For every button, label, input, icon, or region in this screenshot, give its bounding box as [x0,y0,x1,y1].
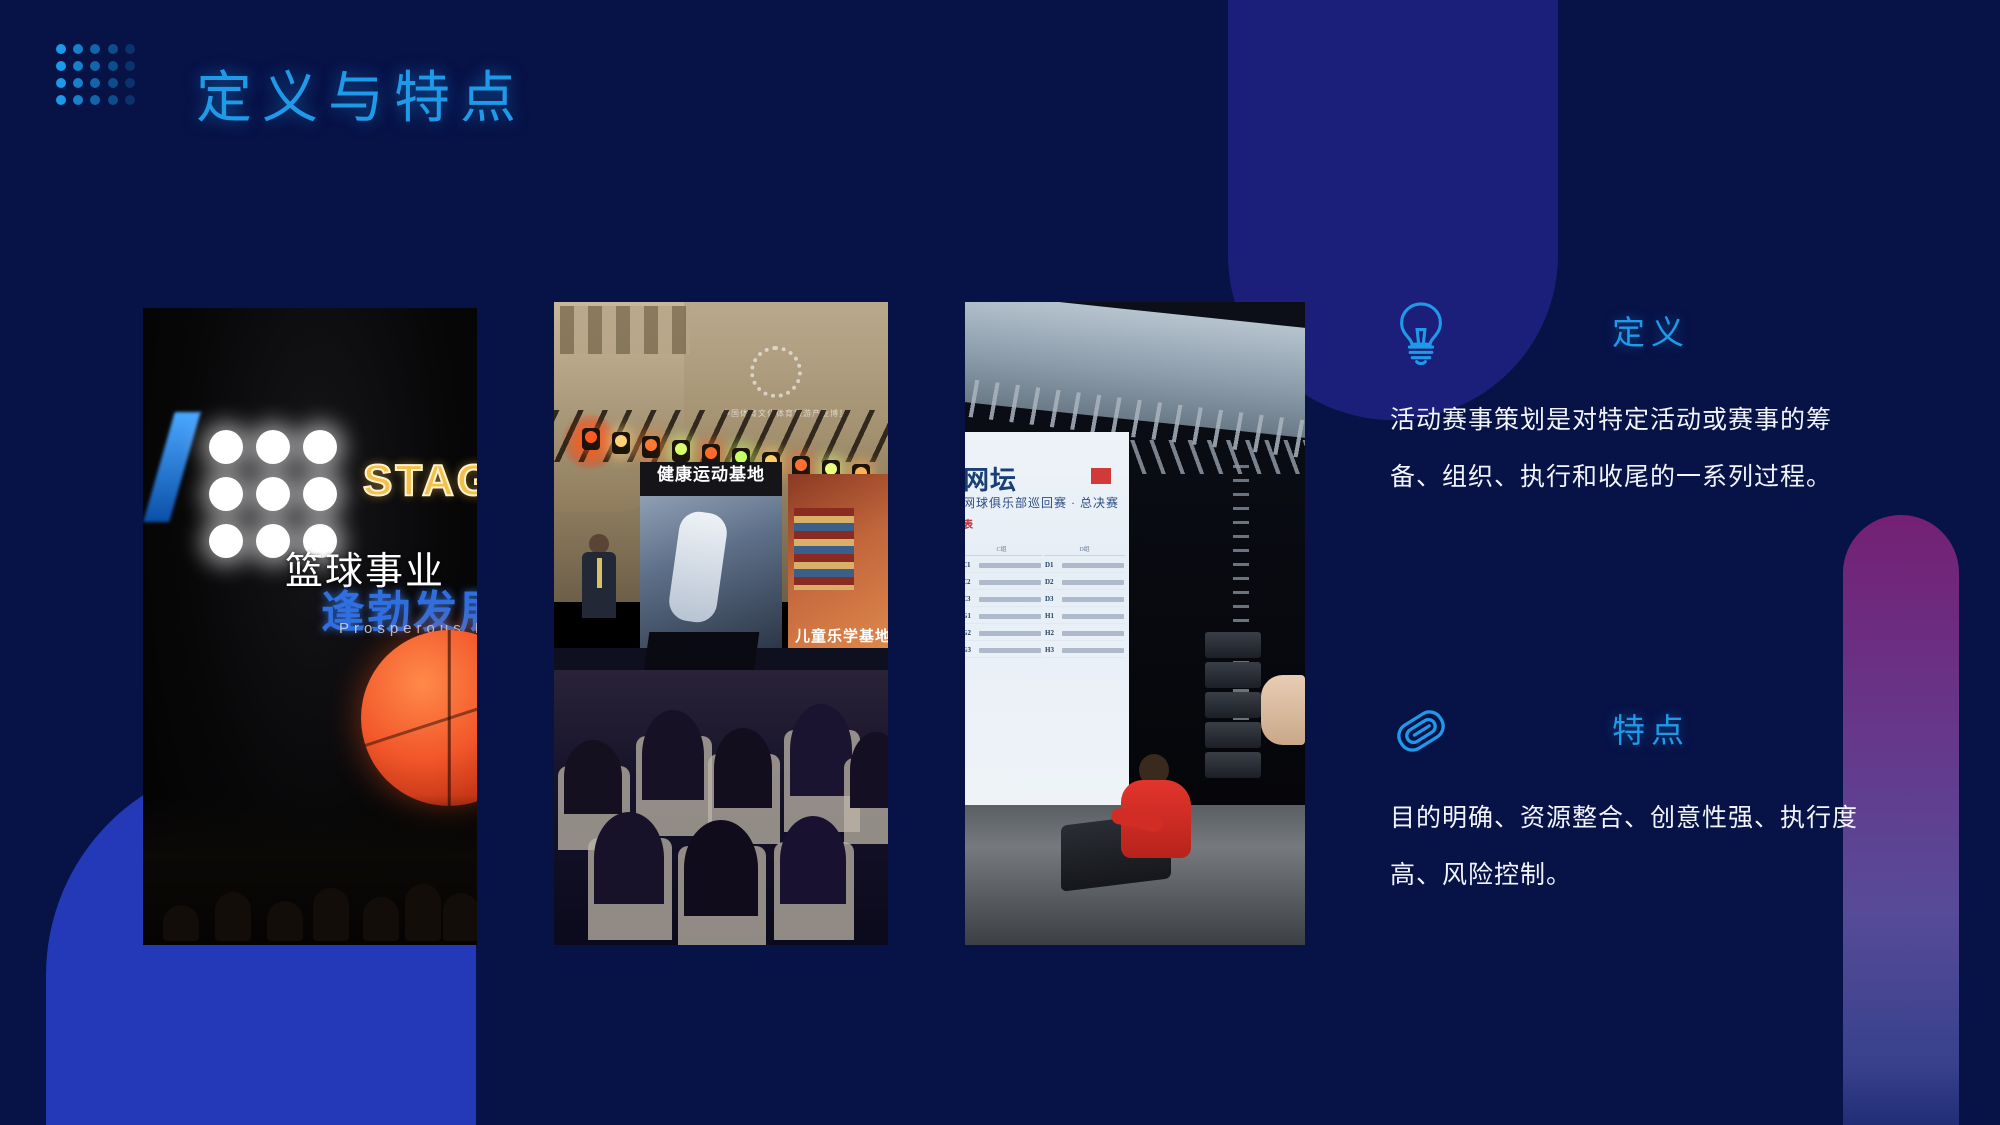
presentation-slide: 定义与特点 STAGE 篮球事业 逢勃发展 Prosperous Develop… [0,0,2000,1125]
info-head-features: 特点 [1390,698,1860,774]
dot [56,78,66,88]
bracket-key: D2 [1045,578,1059,586]
dot [73,95,83,105]
photo-conference-stage-presentation: 中国体育文化体育旅游产业博览会 健康运动基地 HEALTHY SPORT BAS… [554,302,888,945]
photo2-board-title: 健康运动基地 HEALTHY SPORT BASE [640,462,782,496]
bracket-value [1062,631,1124,636]
bracket-row: H3 [1044,643,1125,658]
photo2-sign-board-sport: 健康运动基地 HEALTHY SPORT BASE [640,462,782,652]
slide-header: 定义与特点 [0,0,2000,180]
photo3-speaker-stack [1205,632,1261,782]
bracket-key: G2 [965,629,976,637]
dot [90,95,100,105]
dot [125,95,135,105]
photo2-board2-title: 儿童乐学基地 [788,625,888,646]
dot [90,44,100,54]
crowd-silhouette [163,905,199,941]
stage-lamp [642,436,660,458]
dot [108,61,118,71]
audience-member [642,710,704,800]
dot [125,61,135,71]
photo3-banner-logo [1091,468,1111,484]
info-title-definition: 定义 [1612,306,1690,354]
photo2-board-title-cn: 健康运动基地 [657,465,765,484]
dot [90,78,100,88]
audience-member [594,812,664,904]
crowd-silhouette [443,893,477,941]
bracket-header: C组 [965,542,1042,556]
info-block-definition: 定义 活动赛事策划是对特定活动或赛事的筹备、组织、执行和收尾的一系列过程。 [1390,300,1860,506]
photo2-runner-figure [667,509,730,625]
photo1-stage-lights [209,430,337,558]
bracket-value [979,563,1041,568]
photo2-sign-board-children: 儿童乐学基地 [788,474,888,652]
photo3-banner-title: 网坛 [965,460,1017,497]
audience-member [714,728,772,808]
bracket-value [979,597,1041,602]
audience-member [684,820,758,916]
info-column: 定义 活动赛事策划是对特定活动或赛事的筹备、组织、执行和收尾的一系列过程。 特点 [1390,300,1860,904]
bracket-key: C2 [965,578,976,586]
audience-member [564,740,622,814]
dot [108,44,118,54]
bracket-value [1062,580,1124,585]
photo3-banner-subtitle: 网球俱乐部巡回赛 · 总决赛 [965,494,1119,511]
bracket-column: D组D1D2D3H1H2H3 [1044,542,1125,772]
page-title: 定义与特点 [196,53,526,134]
bracket-key: D1 [1045,561,1059,569]
dot [73,44,83,54]
dot [125,78,135,88]
info-block-features: 特点 目的明确、资源整合、创意性强、执行度高、风险控制。 [1390,698,1860,904]
bracket-value [979,648,1041,653]
bracket-value [979,580,1041,585]
dot [56,44,66,54]
stage-lamp [672,440,690,462]
dot [108,95,118,105]
bracket-row: H2 [1044,626,1125,641]
bracket-row: C3 [965,592,1042,607]
photo2-board-image [640,496,782,652]
photo2-audience [554,670,888,945]
info-body-features: 目的明确、资源整合、创意性强、执行度高、风险控制。 [1390,790,1860,904]
stage-lamp [612,432,630,454]
bracket-key: G1 [965,612,976,620]
photo3-hand [1261,675,1305,745]
info-head-definition: 定义 [1390,300,1860,376]
dot [73,61,83,71]
bracket-value [1062,563,1124,568]
photo2-books-graphic [794,508,854,590]
dot-grid-icon [56,44,136,106]
photo2-truss [554,410,888,462]
dot [125,44,135,54]
photo2-presenter [582,534,616,642]
bracket-key: G3 [965,646,976,654]
bracket-row: G2 [965,626,1042,641]
bracket-value [979,631,1041,636]
photo3-bracket-table: C组C1C2C3G1G2G3D组D1D2D3H1H2H3 [965,542,1125,772]
photo2-emblem-icon [750,346,802,398]
bracket-key: C1 [965,561,976,569]
photo2-ornament [560,306,690,354]
bracket-row: D2 [1044,575,1125,590]
bracket-row: D3 [1044,592,1125,607]
stage-lamp [582,428,600,450]
crowd-silhouette [215,892,251,941]
crowd-silhouette [405,884,441,941]
info-title-features: 特点 [1612,704,1690,752]
bracket-key: C3 [965,595,976,603]
dot [56,95,66,105]
audience-member [780,816,846,904]
crowd-silhouette [313,888,349,941]
bracket-row: G1 [965,609,1042,624]
dot [73,78,83,88]
bracket-row: D1 [1044,558,1125,573]
bracket-value [1062,597,1124,602]
photo1-stage-text: STAGE [363,456,477,506]
bracket-row: C1 [965,558,1042,573]
crowd-silhouette [267,901,303,941]
audience-member [790,704,852,796]
lightbulb-icon [1390,300,1452,366]
bracket-key: D3 [1045,595,1059,603]
bracket-column: C组C1C2C3G1G2G3 [965,542,1042,772]
bracket-value [1062,614,1124,619]
photo-basketball-event-stage: STAGE 篮球事业 逢勃发展 Prosperous Development [143,308,477,945]
dot [90,61,100,71]
bracket-value [1062,648,1124,653]
photo3-banner-note: 表 [965,516,973,531]
bracket-header: D组 [1044,542,1125,556]
dot [108,78,118,88]
bracket-row: H1 [1044,609,1125,624]
dot [56,61,66,71]
decor-bottom-right-gradient-pill [1843,515,1959,1125]
bracket-key: H1 [1045,612,1059,620]
photo-outdoor-tennis-event-stage: 网坛 网球俱乐部巡回赛 · 总决赛 表 C组C1C2C3G1G2G3D组D1D2… [965,302,1305,945]
crowd-silhouette [363,897,399,941]
photo3-worker-in-red [1117,754,1193,884]
bracket-key: H2 [1045,629,1059,637]
paperclip-tag-icon [1390,698,1452,764]
bracket-row: C2 [965,575,1042,590]
photo1-crowd-silhouette [143,795,477,945]
bracket-row: G3 [965,643,1042,658]
bracket-key: H3 [1045,646,1059,654]
info-body-definition: 活动赛事策划是对特定活动或赛事的筹备、组织、执行和收尾的一系列过程。 [1390,392,1860,506]
bracket-value [979,614,1041,619]
